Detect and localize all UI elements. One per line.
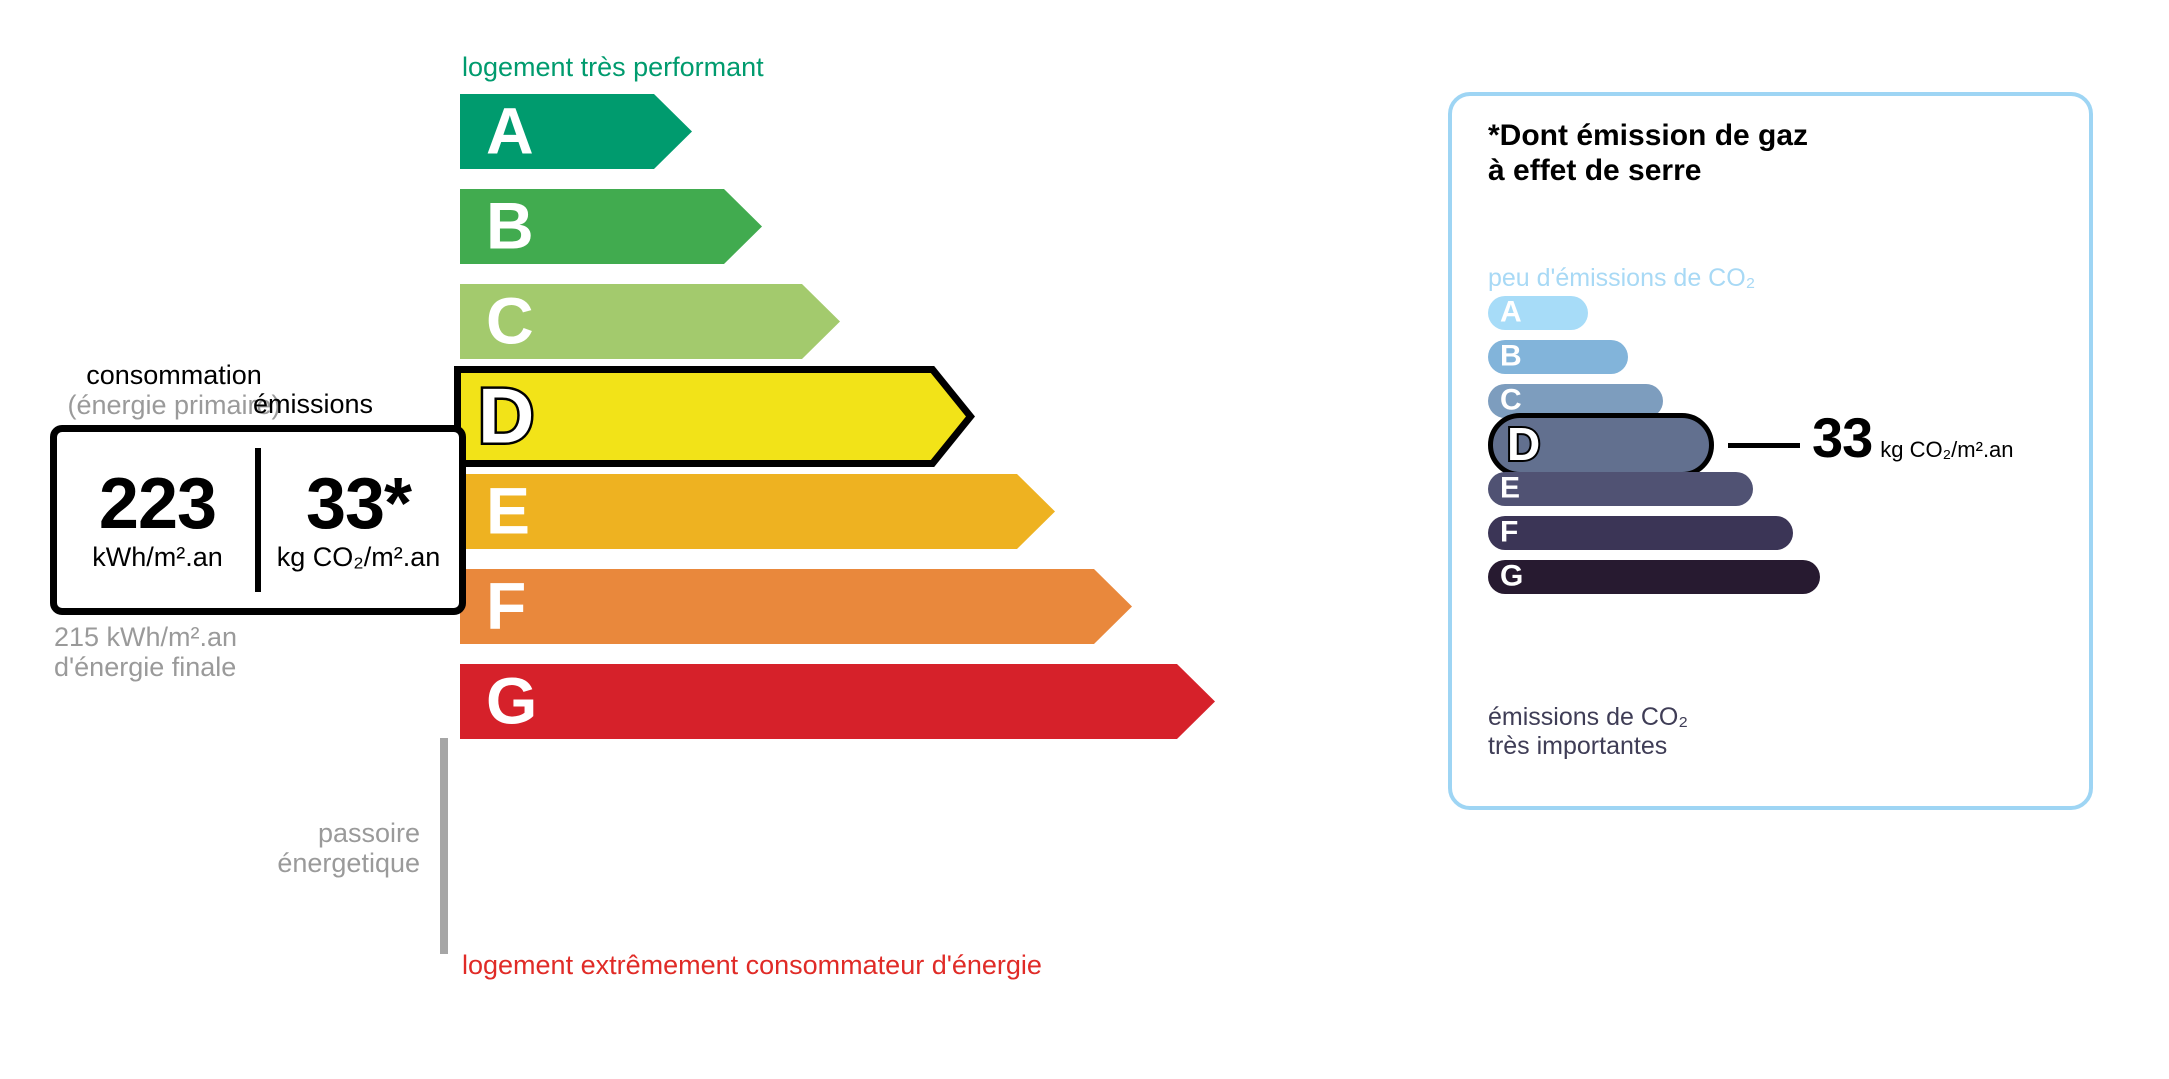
passoire-label: passoire énergetique — [180, 818, 420, 878]
emission-value-cell: 33* kg CO₂/m².an — [258, 468, 459, 573]
energy-band-f: F — [460, 569, 1180, 644]
energy-band-c: C — [460, 284, 888, 359]
co2-callout-leader-line — [1728, 443, 1800, 448]
consumption-value-cell: 223 kWh/m².an — [57, 468, 258, 573]
co2-bar-letter-e: E — [1500, 473, 1520, 503]
co2-callout: 33kg CO₂/m².an — [1812, 405, 2014, 470]
final-energy-note-line2: d'énergie finale — [54, 652, 237, 682]
energy-band-e: E — [460, 474, 1103, 549]
co2-bar-d: D — [1488, 413, 1714, 477]
co2-bar-f: F — [1488, 516, 1793, 550]
co2-bar-letter-a: A — [1500, 297, 1522, 327]
emission-value: 33* — [258, 468, 459, 541]
energy-band-letter-c: C — [486, 287, 534, 353]
energy-band-letter-d: D — [478, 376, 534, 454]
co2-bar-letter-c: C — [1500, 385, 1522, 415]
final-energy-note: 215 kWh/m².an d'énergie finale — [54, 622, 237, 682]
energy-band-letter-g: G — [486, 667, 537, 733]
co2-bottom-caption-line1: émissions de CO₂ — [1488, 703, 1688, 732]
final-energy-note-line1: 215 kWh/m².an — [54, 622, 237, 652]
co2-bottom-caption: émissions de CO₂ très importantes — [1488, 703, 1688, 760]
energy-band-letter-e: E — [486, 477, 530, 543]
passoire-bracket — [440, 738, 448, 954]
energy-band-g: G — [460, 664, 1263, 739]
co2-bar-row-e: E — [1488, 472, 1753, 506]
energy-band-d: D — [454, 366, 1015, 467]
co2-bar-row-a: A — [1488, 296, 1588, 330]
energy-band-b: B — [460, 189, 810, 264]
co2-top-caption: peu d'émissions de CO₂ — [1488, 264, 1755, 293]
energy-band-letter-f: F — [486, 572, 526, 638]
co2-bottom-caption-line2: très importantes — [1488, 732, 1688, 761]
energy-performance-scale: logement très performant ABCDEFG logemen… — [0, 0, 1400, 1079]
co2-emissions-panel: *Dont émission de gaz à effet de serre p… — [1448, 92, 2093, 810]
co2-panel-title: *Dont émission de gaz à effet de serre — [1488, 118, 1808, 189]
co2-bar-letter-d: D — [1507, 421, 1540, 467]
co2-bar-letter-f: F — [1500, 517, 1518, 547]
co2-callout-unit: kg CO₂/m².an — [1880, 437, 2013, 462]
value-box: 223 kWh/m².an 33* kg CO₂/m².an — [50, 425, 466, 615]
passoire-label-line1: passoire — [180, 818, 420, 848]
co2-panel-title-line2: à effet de serre — [1488, 153, 1808, 188]
consumption-value: 223 — [57, 468, 258, 541]
co2-bar-row-b: B — [1488, 340, 1628, 374]
co2-panel-title-line1: *Dont émission de gaz — [1488, 118, 1808, 153]
emissions-label: émissions — [253, 389, 463, 420]
co2-bar-a: A — [1488, 296, 1588, 330]
energy-band-a: A — [460, 94, 740, 169]
co2-bar-row-d: D — [1488, 413, 1714, 477]
consumption-unit: kWh/m².an — [57, 543, 258, 573]
co2-bar-letter-b: B — [1500, 341, 1522, 371]
co2-bar-row-f: F — [1488, 516, 1793, 550]
emission-unit: kg CO₂/m².an — [258, 543, 459, 573]
passoire-label-line2: énergetique — [180, 848, 420, 878]
scale-bottom-caption: logement extrêmement consommateur d'éner… — [462, 950, 1042, 981]
co2-bar-e: E — [1488, 472, 1753, 506]
energy-band-shape — [460, 664, 1215, 739]
co2-callout-value: 33 — [1812, 406, 1872, 469]
energy-band-shape — [460, 569, 1132, 644]
co2-bar-g: G — [1488, 560, 1820, 594]
co2-bar-letter-g: G — [1500, 561, 1523, 591]
scale-top-caption: logement très performant — [462, 52, 764, 83]
consumption-label-main: consommation — [54, 360, 294, 390]
co2-bar-b: B — [1488, 340, 1628, 374]
energy-band-letter-b: B — [486, 192, 534, 258]
co2-bar-row-g: G — [1488, 560, 1820, 594]
energy-band-shape — [460, 474, 1055, 549]
energy-band-letter-a: A — [486, 97, 534, 163]
